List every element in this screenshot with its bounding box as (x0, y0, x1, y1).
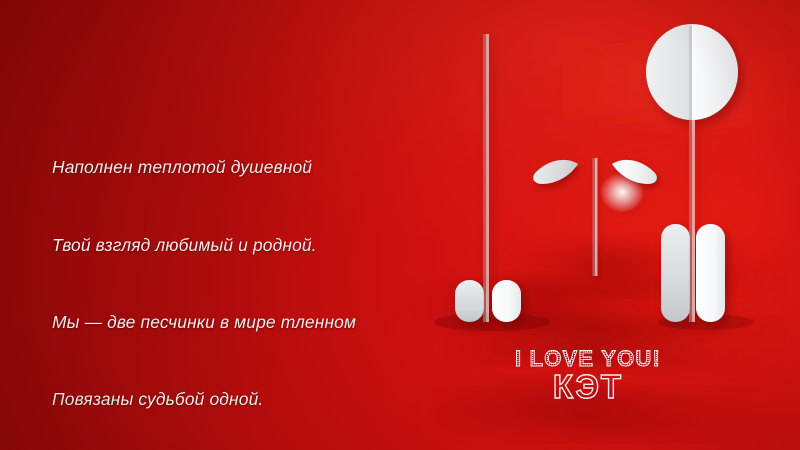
background-vignette (0, 0, 800, 450)
valentine-card: Наполнен теплотой душевной Твой взгляд л… (0, 0, 800, 450)
